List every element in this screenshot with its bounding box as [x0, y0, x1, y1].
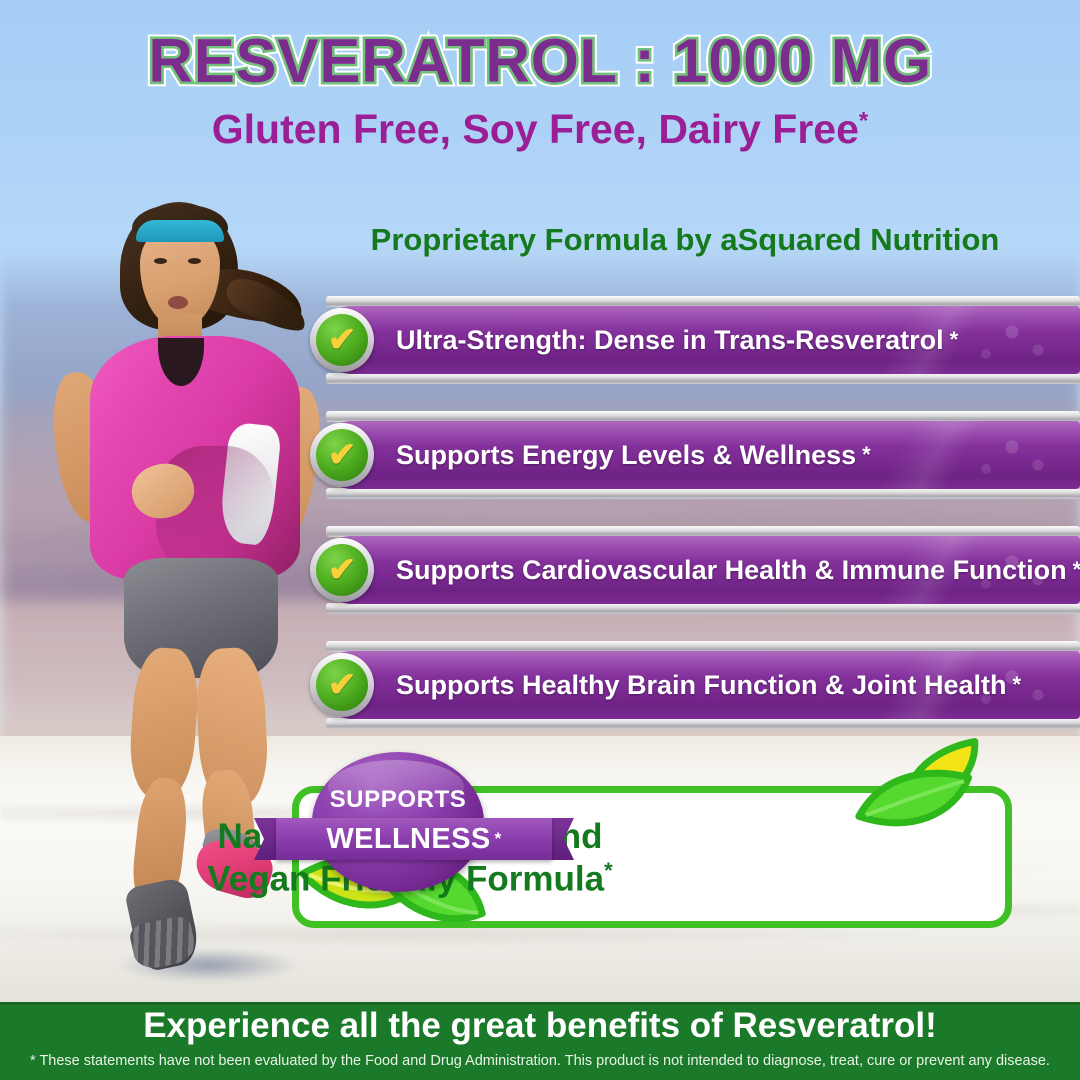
footer-headline: Experience all the great benefits of Res… — [0, 1006, 1080, 1046]
runner-left-eye — [154, 258, 167, 264]
check-glyph: ✔ — [310, 538, 374, 602]
check-mark-icon: ✔ — [310, 308, 374, 372]
page-title: RESVERATROL : 1000 MG — [0, 26, 1080, 97]
seal-wellness-asterisk: * — [495, 829, 502, 849]
runner-headband — [136, 220, 224, 242]
benefit-label-1: Ultra-Strength: Dense in Trans-Resveratr… — [396, 306, 958, 374]
seal-supports-text: SUPPORTS — [312, 786, 484, 814]
benefit-asterisk-2: * — [862, 442, 871, 468]
natural-asterisk: * — [604, 858, 613, 883]
check-mark-icon: ✔ — [310, 423, 374, 487]
benefit-text-3: Supports Cardiovascular Health & Immune … — [396, 555, 1067, 586]
benefit-asterisk-4: * — [1013, 672, 1022, 698]
benefits-list: ✔ Ultra-Strength: Dense in Trans-Resvera… — [318, 296, 1080, 756]
benefit-label-2: Supports Energy Levels & Wellness* — [396, 421, 871, 489]
benefit-text-1: Ultra-Strength: Dense in Trans-Resveratr… — [396, 325, 944, 356]
check-glyph: ✔ — [310, 423, 374, 487]
product-subtitle: Gluten Free, Soy Free, Dairy Free* — [0, 106, 1080, 153]
check-glyph: ✔ — [310, 653, 374, 717]
benefit-bar-2[interactable]: ✔ Supports Energy Levels & Wellness* — [318, 411, 1080, 526]
fda-disclaimer: * These statements have not been evaluat… — [0, 1053, 1080, 1069]
benefit-text-4: Supports Healthy Brain Function & Joint … — [396, 670, 1007, 701]
runner-right-eye — [188, 258, 201, 264]
seal-wellness-label: WELLNESS — [326, 823, 490, 856]
product-subtitle-text: Gluten Free, Soy Free, Dairy Free — [212, 106, 859, 152]
check-glyph: ✔ — [310, 308, 374, 372]
bar-bottom-edge — [326, 718, 1080, 729]
benefit-bar-1[interactable]: ✔ Ultra-Strength: Dense in Trans-Resvera… — [318, 296, 1080, 411]
benefit-label-4: Supports Healthy Brain Function & Joint … — [396, 651, 1021, 719]
bar-bottom-edge — [326, 603, 1080, 614]
benefit-asterisk-1: * — [950, 327, 959, 353]
benefit-bar-3[interactable]: ✔ Supports Cardiovascular Health & Immun… — [318, 526, 1080, 641]
check-mark-icon: ✔ — [310, 538, 374, 602]
bar-bottom-edge — [326, 488, 1080, 499]
check-mark-icon: ✔ — [310, 653, 374, 717]
benefit-label-3: Supports Cardiovascular Health & Immune … — [396, 536, 1080, 604]
supports-wellness-seal: SUPPORTS WELLNESS* — [276, 752, 552, 924]
runner-mouth — [168, 296, 188, 309]
proprietary-formula-line: Proprietary Formula by aSquared Nutritio… — [290, 222, 1080, 258]
bar-bottom-edge — [326, 373, 1080, 384]
leaf-icon-green-top — [853, 758, 976, 840]
benefit-text-2: Supports Energy Levels & Wellness — [396, 440, 856, 471]
benefit-asterisk-3: * — [1073, 557, 1080, 583]
seal-wellness-text: WELLNESS* — [276, 818, 552, 860]
subtitle-asterisk: * — [859, 107, 868, 134]
runner-left-thigh — [127, 646, 201, 800]
infographic-canvas: RESVERATROL : 1000 MG RESVERATROL : 1000… — [0, 0, 1080, 1080]
